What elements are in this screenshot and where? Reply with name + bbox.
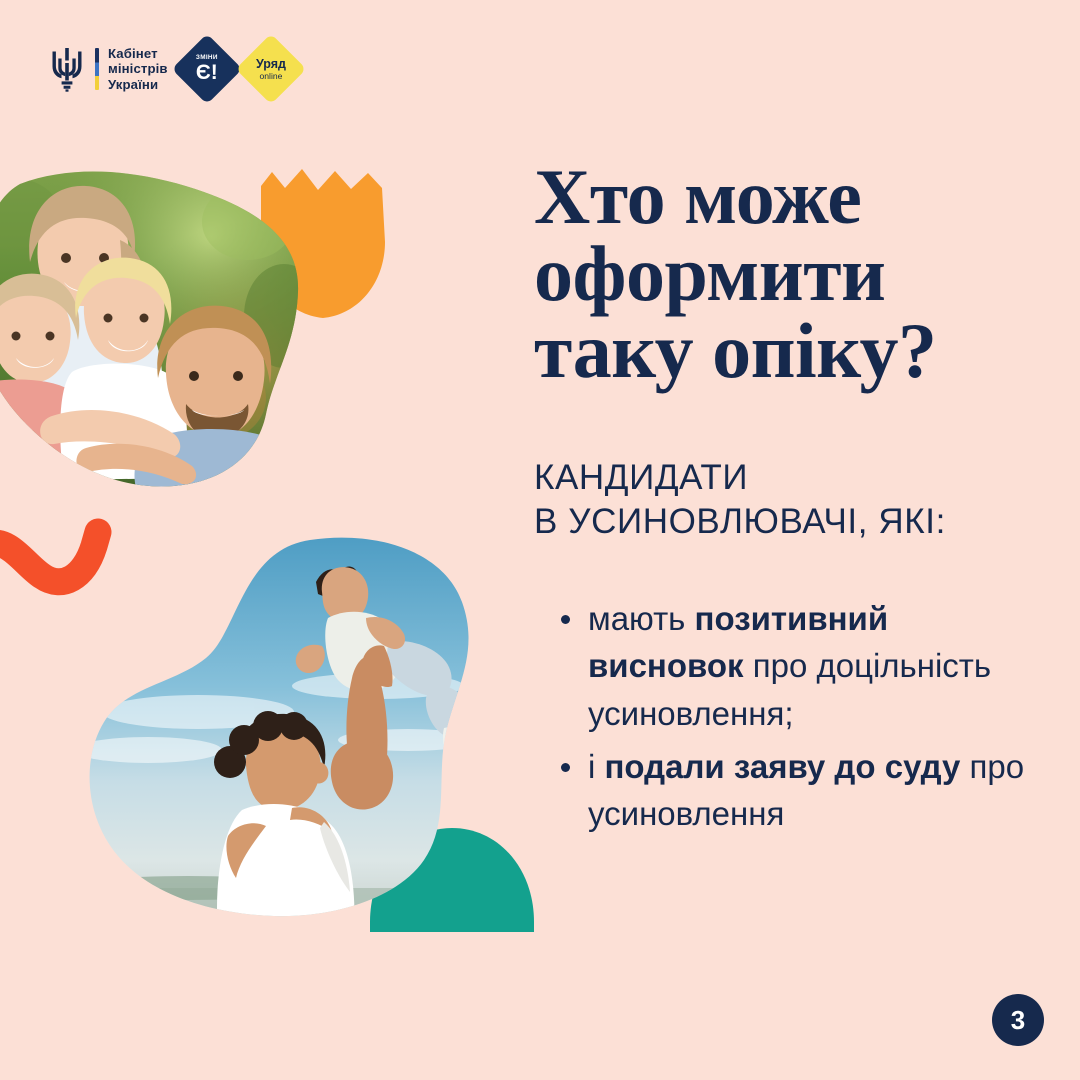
content-column: Хто може оформити таку опіку? Кандидати … [534, 158, 1046, 843]
page-title: Хто може оформити таку опіку? [534, 158, 1046, 390]
father-lifting-child-photo [78, 536, 490, 932]
cabinet-of-ministers-logo: Кабінет міністрів України [48, 46, 168, 93]
uryad-online-logo[interactable]: Уряд online [235, 34, 306, 105]
subheading: Кандидати в усиновлювачі, які: [534, 456, 1046, 546]
plain-text: і [588, 748, 605, 785]
zmini-ye-inner: ЗМІНИ Є! [196, 55, 218, 83]
page-number-badge: 3 [992, 994, 1044, 1046]
cabinet-of-ministers-label: Кабінет міністрів України [108, 46, 168, 93]
logo-bar: Кабінет міністрів України ЗМІНИ Є! Уряд … [48, 44, 296, 94]
family-photo [0, 166, 306, 488]
list-item: мають позитивний висновок про доцільніст… [588, 595, 1046, 737]
list-item: і подали заяву до суду про усиновлення [588, 743, 1046, 837]
plain-text: мають [588, 600, 695, 637]
infographic-slide: Кабінет міністрів України ЗМІНИ Є! Уряд … [0, 0, 1080, 1080]
criteria-list: мають позитивний висновок про доцільніст… [534, 595, 1046, 837]
uryad-top-label: Уряд [256, 58, 286, 71]
zmini-main-label: Є! [196, 62, 218, 83]
zmini-top-label: ЗМІНИ [196, 55, 218, 61]
zmini-ye-logo[interactable]: ЗМІНИ Є! [171, 34, 242, 105]
uryad-online-inner: Уряд online [256, 58, 286, 80]
flag-divider [95, 48, 99, 90]
ukraine-trident-icon [48, 46, 86, 92]
emphasis-text: подали заяву до суду [605, 748, 961, 785]
uryad-sub-label: online [256, 71, 286, 80]
